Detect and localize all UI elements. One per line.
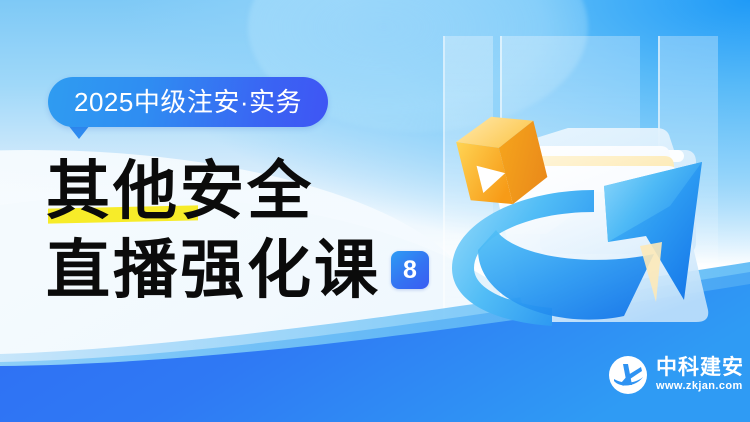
brand-name: 中科建安 <box>656 357 744 379</box>
brand-url: www.zkjan.com <box>656 379 744 393</box>
swoosh-circle-icon <box>608 355 648 395</box>
headline-row-1: 其他安全 <box>46 152 429 226</box>
brand-logo: 中科建安 www.zkjan.com <box>608 355 744 395</box>
headline-row-2: 直播强化课 8 <box>46 234 429 308</box>
headline-line-2: 直播强化课 <box>46 237 381 305</box>
illustration-folder-arrow-cube <box>418 10 750 340</box>
course-category-tag: 2025中级注安·实务 <box>48 77 328 127</box>
headline-block: 其他安全 直播强化课 8 <box>46 152 429 308</box>
course-category-label: 2025中级注安·实务 <box>74 89 302 115</box>
course-banner: 2025中级注安·实务 其他安全 直播强化课 8 中科建安 www.zkjan.… <box>0 0 750 422</box>
episode-number-badge: 8 <box>391 251 429 289</box>
tag-tail-icon <box>68 125 90 139</box>
brand-text-block: 中科建安 www.zkjan.com <box>656 357 744 393</box>
headline-line-1: 其他安全 <box>46 158 314 226</box>
